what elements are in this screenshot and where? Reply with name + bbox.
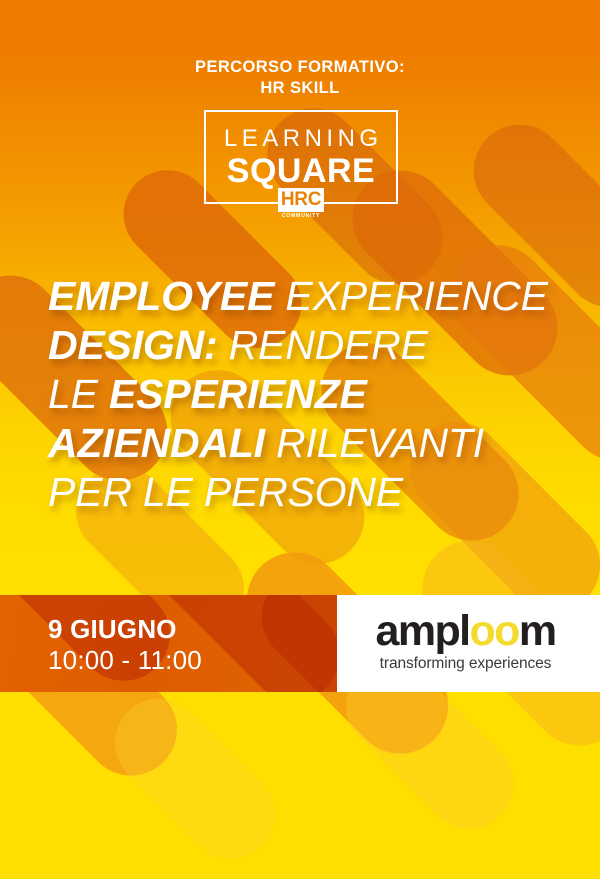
sponsor-logo-text: m [519, 607, 556, 655]
headline-line: LE ESPERIENZE [48, 370, 578, 419]
event-date-band: 9 GIUGNO 10:00 - 11:00 [0, 595, 337, 692]
learning-square-line-bold: SQUARE [206, 154, 396, 188]
event-time-range: 10:00 - 11:00 [48, 645, 202, 676]
event-date-day: 9 GIUGNO [48, 614, 202, 645]
learning-square-line-light: LEARNING [206, 127, 396, 151]
hrc-community-logo: HRC COMMUNITY [278, 188, 324, 219]
headline-segment: PER LE PERSONE [48, 469, 403, 515]
sponsor-logo-tagline: transforming experiences [337, 655, 594, 673]
kicker-line-2: HR SKILL [0, 78, 600, 99]
headline-segment: LE [48, 371, 109, 417]
headline-segment: RENDERE [217, 322, 427, 368]
headline-emphasis: AZIENDALI [48, 420, 265, 466]
headline-segment: EXPERIENCE [274, 273, 548, 319]
poster-canvas: PERCORSO FORMATIVO: HR SKILL LEARNING SQ… [0, 0, 600, 879]
kicker-line-1: PERCORSO FORMATIVO: [0, 57, 600, 78]
hrc-mark-text: HRC [278, 188, 324, 212]
headline-title: EMPLOYEE EXPERIENCEDESIGN: RENDERELE ESP… [48, 272, 578, 517]
sponsor-logo-panel: amploom transforming experiences [337, 595, 600, 692]
headline-emphasis: EMPLOYEE [48, 273, 274, 319]
sponsor-logo-text: ampl [376, 607, 470, 655]
headline-line: PER LE PERSONE [48, 468, 578, 517]
sponsor-logo-wordmark: amploom [337, 610, 594, 653]
headline-line: DESIGN: RENDERE [48, 321, 578, 370]
event-date-text: 9 GIUGNO 10:00 - 11:00 [48, 614, 202, 676]
kicker-text: PERCORSO FORMATIVO: HR SKILL [0, 57, 600, 99]
headline-emphasis: ESPERIENZE [109, 371, 367, 417]
headline-line: EMPLOYEE EXPERIENCE [48, 272, 578, 321]
hrc-community-subtitle: COMMUNITY [278, 214, 324, 219]
sponsor-logo-accent: oo [469, 607, 518, 655]
headline-emphasis: DESIGN: [48, 322, 217, 368]
headline-line: AZIENDALI RILEVANTI [48, 419, 578, 468]
headline-segment: RILEVANTI [265, 420, 484, 466]
